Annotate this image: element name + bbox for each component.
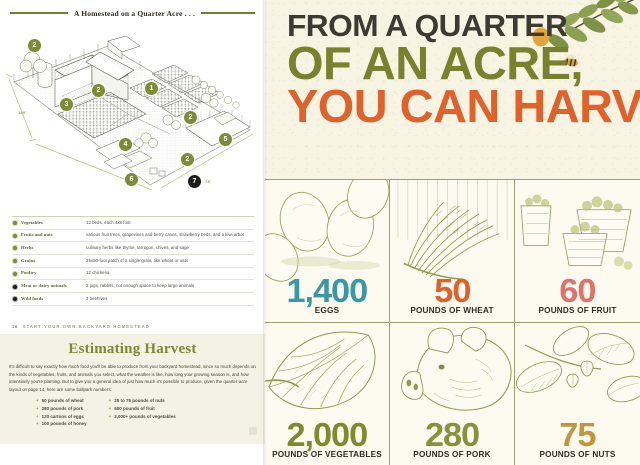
legend-key: Poultry [12, 270, 86, 277]
list-item: +50 pounds of wheat [36, 398, 87, 403]
legend-dot-icon [12, 284, 18, 290]
left-page: A Homestead on a Quarter Acre . . . [0, 0, 265, 465]
list-item-text: 280 pounds of pork [42, 406, 84, 411]
legend-label: Grains [21, 258, 35, 264]
stat-number: 50 [434, 277, 470, 305]
stat-number: 1,400 [287, 277, 368, 305]
right-page: FROM A QUARTER OF AN ACRE, YOU CAN HARVE… [265, 0, 640, 465]
list-item: +2,000+ pounds of vegetables [109, 414, 176, 419]
legend-description: 12 beds, each 4x8 foot [86, 220, 254, 226]
legend-dot-icon [12, 245, 18, 251]
stat-cell-vegetables: 2,000 POUNDS OF VEGETABLES [265, 323, 390, 465]
headline-block: FROM A QUARTER OF AN ACRE, YOU CAN HARVE… [287, 12, 617, 127]
legend-description: 25x50-foot patch of a single grain, like… [86, 258, 254, 264]
bullet-icon: + [36, 406, 39, 411]
legend-row: Wild foods 2 beehives [12, 293, 254, 306]
stat-number: 280 [425, 421, 479, 449]
stat-cell-fruit: 60 POUNDS OF FRUIT [515, 180, 640, 323]
marker-label: 2 [97, 87, 101, 94]
list-item: +600 pounds of fruit [109, 406, 176, 411]
stat-label: POUNDS OF NUTS [539, 450, 615, 459]
legend-key: Fruits and nuts [12, 232, 86, 239]
map-marker-3[interactable]: 3 [60, 98, 73, 111]
pig-snout [402, 371, 423, 399]
legend-key: Vegetables [12, 220, 86, 227]
legend-row: Meat or dairy animals 2 pigs, rabbits; n… [12, 280, 254, 293]
nut-leaves [515, 323, 640, 406]
stat-number: 60 [559, 277, 595, 305]
legend-description: 2 pigs, rabbits; not enough space to kee… [86, 283, 254, 289]
headline-line-3: YOU CAN HARVEST: [287, 85, 624, 127]
legend-dot-icon [12, 233, 18, 239]
folio-number: 16 [12, 324, 18, 329]
map-marker-1[interactable]: 1 [145, 82, 158, 95]
harvest-stat-grid: 1,400 EGGS [265, 179, 640, 465]
legend-key: Meat or dairy animals [12, 283, 86, 290]
stat-label: POUNDS OF PORK [413, 450, 490, 459]
legend-dot-icon [12, 258, 18, 264]
homestead-illustration: 2 3 2 1 2 4 5 2 6 7 140' 78' [0, 22, 265, 212]
map-marker-2d[interactable]: 2 [181, 153, 194, 166]
list-item-text: 120 cartons of eggs [42, 414, 84, 419]
marker-label: 3 [65, 101, 69, 108]
bullet-icon: + [36, 398, 39, 403]
page-folio: 16 START YOUR OWN BACKYARD HOMESTEAD [12, 324, 150, 329]
legend-label: Vegetables [21, 220, 43, 226]
stat-number: 2,000 [287, 421, 368, 449]
nut-fruits [567, 361, 593, 387]
marker-label: 1 [150, 85, 154, 92]
legend-label: Wild foods [21, 296, 43, 302]
dimension-length: 140' [18, 110, 27, 115]
bullet-icon: + [109, 398, 112, 403]
title-rule-left [10, 12, 68, 14]
legend-row: Grains 25x50-foot patch of a single grai… [12, 255, 254, 268]
corner-decoration [249, 427, 257, 435]
map-marker-4[interactable]: 4 [119, 138, 132, 151]
marker-label: 5 [224, 136, 228, 143]
marker-label: 6 [130, 176, 134, 183]
stat-label: POUNDS OF FRUIT [538, 306, 616, 315]
list-item: +280 pounds of pork [36, 406, 87, 411]
marker-label: 7 [193, 178, 197, 185]
legend-row: Poultry 12 chickens [12, 268, 254, 281]
harvest-heading: Estimating Harvest [0, 341, 265, 358]
map-marker-2c[interactable]: 2 [184, 111, 197, 124]
book-spread: A Homestead on a Quarter Acre . . . [0, 0, 640, 465]
legend-description: 12 chickens [86, 270, 254, 276]
harvest-column-left: +50 pounds of wheat +280 pounds of pork … [36, 398, 87, 426]
legend-key: Herbs [12, 245, 86, 252]
map-marker-5[interactable]: 5 [219, 133, 232, 146]
list-item-text: 600 pounds of fruit [114, 406, 155, 411]
legend-description: culinary herbs like thyme, tarragon, chi… [86, 245, 254, 251]
map-legend: Vegetables 12 beds, each 4x8 foot Fruits… [12, 216, 254, 306]
wheat-sheaf [408, 202, 499, 277]
estimating-harvest-panel: Estimating Harvest It's difficult to say… [0, 334, 265, 444]
list-item-text: 25 to 75 pounds of nuts [114, 398, 165, 403]
legend-row: Vegetables 12 beds, each 4x8 foot [12, 217, 254, 230]
bullet-icon: + [109, 406, 112, 411]
title-rule-right [201, 12, 255, 14]
legend-label: Poultry [21, 270, 37, 276]
folio-text: START YOUR OWN BACKYARD HOMESTEAD [23, 324, 150, 329]
stat-cell-wheat: 50 POUNDS OF WHEAT [390, 180, 515, 323]
harvest-bullet-columns: +50 pounds of wheat +280 pounds of pork … [36, 398, 265, 426]
marker-label: 2 [189, 114, 193, 121]
legend-description: 2 beehives [86, 296, 254, 302]
harvest-column-right: +25 to 75 pounds of nuts +600 pounds of … [109, 398, 176, 426]
stat-cell-pork: 280 POUNDS OF PORK [390, 323, 515, 465]
stat-label: POUNDS OF WHEAT [410, 306, 493, 315]
legend-key: Wild foods [12, 296, 86, 303]
legend-label: Meat or dairy animals [21, 283, 67, 289]
headline-line-2: OF AN ACRE, [287, 42, 624, 84]
berry-box-left [521, 206, 551, 246]
legend-label: Fruits and nuts [21, 232, 53, 238]
stat-label: EGGS [315, 306, 339, 315]
map-marker-2b[interactable]: 2 [92, 84, 105, 97]
stat-cell-eggs: 1,400 EGGS [265, 180, 390, 323]
pig-ear-left [428, 328, 454, 353]
dimension-width: 78' [205, 179, 211, 184]
map-marker-2a[interactable]: 2 [28, 39, 41, 52]
page-title: A Homestead on a Quarter Acre . . . [74, 9, 195, 18]
list-item: +100 pounds of honey [36, 421, 87, 426]
map-marker-7[interactable]: 7 [188, 175, 201, 188]
map-marker-6[interactable]: 6 [125, 173, 138, 186]
legend-dot-icon [12, 220, 18, 226]
legend-dot-icon [12, 271, 18, 277]
bullet-icon: + [109, 414, 112, 419]
list-item: +25 to 75 pounds of nuts [109, 398, 176, 403]
legend-row: Fruits and nuts various fruit trees, gra… [12, 230, 254, 243]
list-item-text: 2,000+ pounds of vegetables [114, 414, 175, 419]
homestead-title-bar: A Homestead on a Quarter Acre . . . [10, 5, 255, 21]
legend-row: Herbs culinary herbs like thyme, tarrago… [12, 242, 254, 255]
bullet-icon: + [36, 414, 39, 419]
stat-label: POUNDS OF VEGETABLES [272, 450, 382, 459]
list-item-text: 100 pounds of honey [42, 421, 87, 426]
pig-eye [439, 365, 445, 370]
bullet-icon: + [36, 421, 39, 426]
marker-label: 2 [33, 42, 37, 49]
marker-label: 2 [186, 156, 190, 163]
list-item: +120 cartons of eggs [36, 414, 87, 419]
stat-number: 75 [559, 421, 595, 449]
stat-cell-nuts: 75 POUNDS OF NUTS [515, 323, 640, 465]
legend-label: Herbs [21, 245, 34, 251]
legend-description: various fruit trees, grapevines and berr… [86, 232, 254, 238]
list-item-text: 50 pounds of wheat [42, 398, 84, 403]
harvest-body-text: It's difficult to say exactly how much f… [9, 363, 256, 393]
legend-key: Grains [12, 258, 86, 265]
marker-label: 4 [124, 141, 128, 148]
legend-dot-icon [12, 296, 18, 302]
